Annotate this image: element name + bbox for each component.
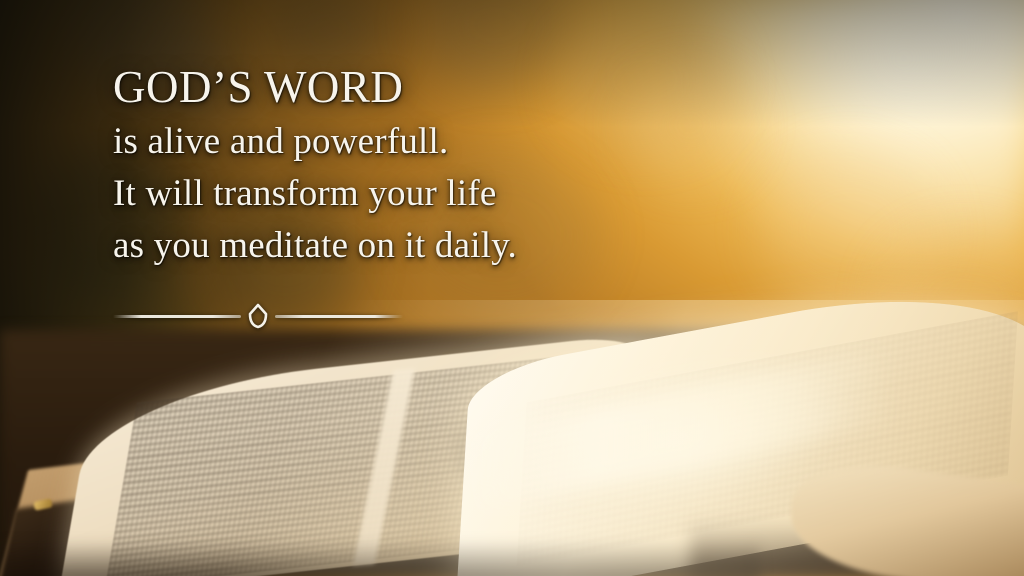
quote-text-block: GOD’S WORD is alive and powerfull. It wi… <box>113 58 753 272</box>
decorative-divider <box>113 302 403 330</box>
book-contact-shadow <box>0 540 760 576</box>
quote-line-3: It will transform your life <box>113 168 753 220</box>
quote-card: GOD’S WORD is alive and powerfull. It wi… <box>0 0 1024 576</box>
diamond-ornament-icon <box>247 303 269 329</box>
divider-rule-right <box>275 315 403 318</box>
quote-line-headline: GOD’S WORD <box>113 58 753 116</box>
divider-rule-left <box>113 315 241 318</box>
quote-line-2: is alive and powerfull. <box>113 116 753 168</box>
quote-line-4: as you meditate on it daily. <box>113 220 753 272</box>
